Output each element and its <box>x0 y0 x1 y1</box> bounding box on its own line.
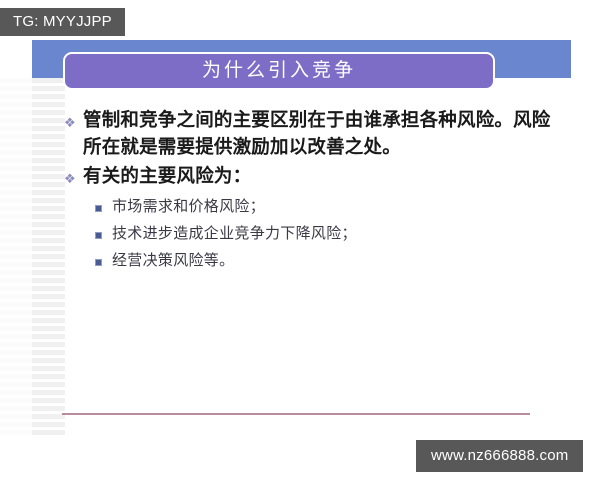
square-bullet-icon <box>95 251 112 266</box>
slide-decoration-stripes-inner <box>32 78 65 438</box>
bullet-item: ❖ 有关的主要风险为： <box>64 164 562 191</box>
list-item: 技术进步造成企业竞争力下降风险； <box>95 224 562 244</box>
watermark-bottom-badge: www.nz666888.com <box>416 440 583 472</box>
diamond-bullet-icon: ❖ <box>64 108 83 130</box>
watermark-top-badge: TG: MYYJJPP <box>0 8 125 36</box>
sub-bullet-text: 技术进步造成企业竞争力下降风险； <box>112 224 562 244</box>
sub-bullet-text: 市场需求和价格风险； <box>112 197 562 217</box>
list-item: 经营决策风险等。 <box>95 251 562 271</box>
bullet-item: ❖ 管制和竞争之间的主要区别在于由谁承担各种风险。风险所在就是需要提供激励加以改… <box>64 108 562 162</box>
sub-bullet-list: 市场需求和价格风险； 技术进步造成企业竞争力下降风险； 经营决策风险等。 <box>95 197 562 271</box>
sub-bullet-text: 经营决策风险等。 <box>112 251 562 271</box>
slide-decoration-stripes-outer <box>0 78 33 438</box>
presentation-slide: 为什么引入竞争 ❖ 管制和竞争之间的主要区别在于由谁承担各种风险。风险所在就是需… <box>0 0 600 480</box>
square-bullet-icon <box>95 197 112 212</box>
slide-body: ❖ 管制和竞争之间的主要区别在于由谁承担各种风险。风险所在就是需要提供激励加以改… <box>64 108 562 278</box>
list-item: 市场需求和价格风险； <box>95 197 562 217</box>
diamond-bullet-icon: ❖ <box>64 164 83 186</box>
slide-title-plate: 为什么引入竞争 <box>63 52 495 90</box>
slide-title: 为什么引入竞争 <box>202 61 356 81</box>
bullet-text: 管制和竞争之间的主要区别在于由谁承担各种风险。风险所在就是需要提供激励加以改善之… <box>83 108 562 162</box>
bullet-text: 有关的主要风险为： <box>83 164 562 191</box>
square-bullet-icon <box>95 224 112 239</box>
slide-footer-divider <box>62 413 530 415</box>
